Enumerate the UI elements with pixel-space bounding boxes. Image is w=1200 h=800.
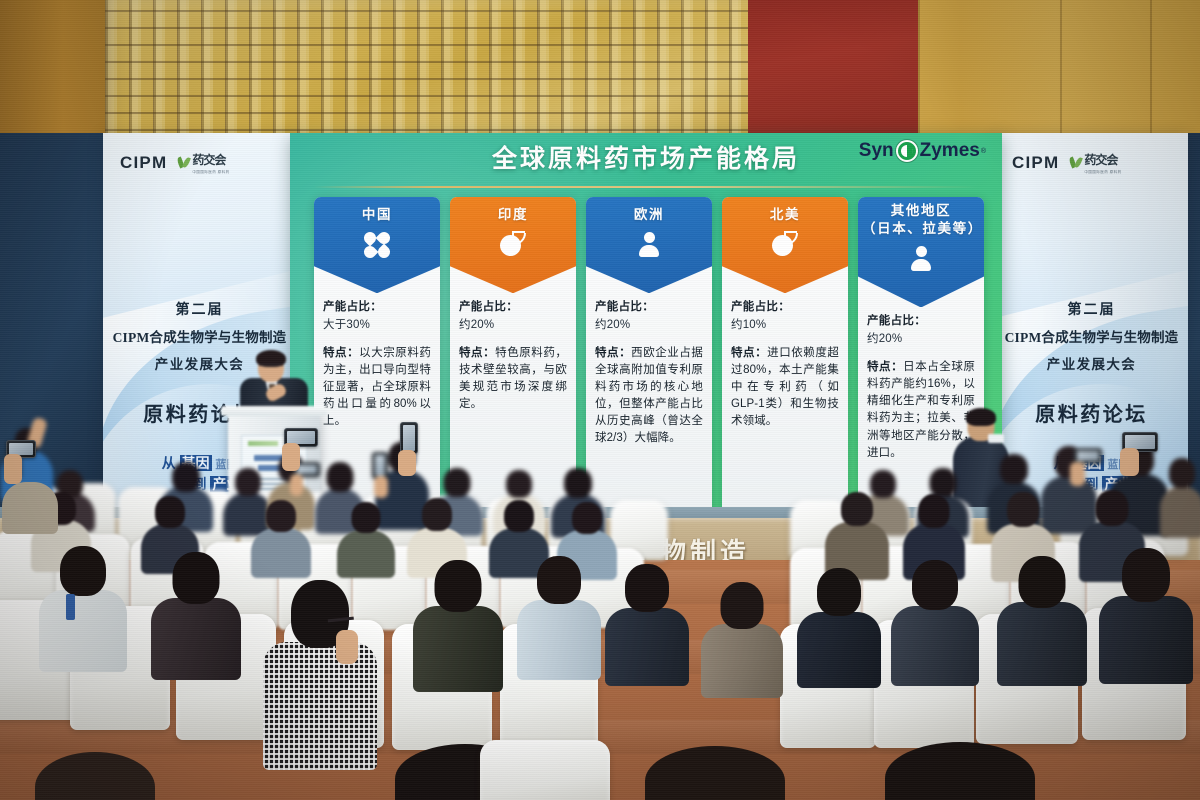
logo-part-2: Zymes bbox=[920, 140, 980, 162]
audience-head bbox=[1000, 454, 1028, 484]
share-value: 约20% bbox=[459, 316, 567, 332]
audience-member-foreground bbox=[262, 580, 378, 750]
hand bbox=[398, 450, 416, 476]
audience-body bbox=[151, 598, 241, 680]
feature-block: 特点：特色原料药，技术壁垒较高，与欧美规范市场深度绑定。 bbox=[459, 345, 567, 413]
attendee-photographer bbox=[1112, 432, 1182, 504]
banner-title-line1: 第二届 bbox=[995, 299, 1188, 319]
hand bbox=[1070, 462, 1085, 486]
region-card-north-america: 北美 产能占比： 约10% 特点：进口依赖度超过80%，本土产能集中在专利药（如… bbox=[722, 197, 848, 525]
card-body: 产能占比： 约20% 特点：西欧企业占据全球高附加值专利原料药市场的核心地位，但… bbox=[586, 293, 712, 447]
audience-member-partial bbox=[880, 742, 1040, 800]
feature-label: 特点： bbox=[323, 347, 359, 359]
synzymes-logo: Syn Zymes ® bbox=[859, 140, 986, 162]
feature-label: 特点： bbox=[867, 361, 903, 373]
glasses bbox=[328, 617, 355, 627]
audience-body-plaid bbox=[263, 642, 377, 770]
clover-icon bbox=[363, 231, 391, 259]
audience-member bbox=[38, 546, 128, 658]
attendee-photographer bbox=[0, 440, 60, 530]
share-label: 产能占比： bbox=[595, 298, 703, 314]
audience-head bbox=[172, 462, 200, 492]
card-region-name: 其他地区 bbox=[862, 202, 980, 220]
audience-head bbox=[235, 468, 261, 496]
audience-body bbox=[605, 608, 689, 686]
card-header: 北美 bbox=[722, 197, 848, 293]
attendee-collar bbox=[988, 434, 1004, 443]
audience-member bbox=[412, 560, 504, 676]
audience-member bbox=[796, 568, 882, 676]
card-region-note: （日本、拉美等） bbox=[862, 220, 980, 238]
attendee-photographer bbox=[396, 422, 460, 496]
audience-head bbox=[1019, 556, 1066, 608]
leaf-icon bbox=[1070, 157, 1081, 170]
audience-head bbox=[817, 568, 861, 616]
logo-cn-sub: 中国国际医药 原料药 bbox=[192, 170, 229, 175]
audience-member bbox=[1098, 548, 1194, 670]
slide-divider bbox=[314, 186, 978, 188]
logo-part-1: Syn bbox=[859, 140, 894, 162]
card-header: 中国 bbox=[314, 197, 440, 293]
person-icon bbox=[635, 231, 663, 259]
audience-head bbox=[625, 564, 669, 612]
audience-member bbox=[890, 560, 980, 672]
card-region-name: 北美 bbox=[726, 206, 844, 224]
share-value: 约10% bbox=[731, 316, 839, 332]
audience-body bbox=[337, 530, 395, 578]
audience-head bbox=[537, 556, 581, 604]
card-region-name: 印度 bbox=[454, 206, 572, 224]
chair bbox=[480, 740, 610, 800]
card-header: 欧洲 bbox=[586, 197, 712, 293]
hand bbox=[282, 443, 300, 471]
cipm-logo: CIPM bbox=[120, 153, 167, 173]
person-icon bbox=[907, 245, 935, 273]
banner-logos: CIPM 药交会 中国国际医药 原料药 bbox=[1012, 151, 1122, 175]
card-region-name: 欧洲 bbox=[590, 206, 708, 224]
audience-member bbox=[150, 552, 242, 666]
pie-chart-icon bbox=[771, 231, 799, 259]
audience-head bbox=[919, 494, 950, 528]
banner-logos: CIPM 药交会 中国国际医药 原料药 bbox=[120, 151, 230, 175]
banner-title-line3: 产业发展大会 bbox=[995, 353, 1188, 373]
hand bbox=[1120, 448, 1139, 476]
hand bbox=[4, 454, 22, 484]
conference-photo: CIPM 药交会 中国国际医药 原料药 第二届 CIPM合成生物学与生物制造 产… bbox=[0, 0, 1200, 800]
audience-member bbox=[996, 556, 1088, 672]
feature-block: 特点：以大宗原料药为主，出口导向型特征显著，占全球原料药出口量的80%以上。 bbox=[323, 345, 431, 430]
pie-chart-icon bbox=[499, 231, 527, 259]
audience-head bbox=[721, 582, 764, 629]
audience-member bbox=[336, 502, 396, 572]
audience-head bbox=[173, 552, 220, 604]
hand bbox=[336, 630, 358, 664]
synzymes-emblem-icon bbox=[896, 140, 918, 162]
lanyard bbox=[66, 594, 75, 620]
speaker-glasses bbox=[259, 364, 283, 369]
audience-head bbox=[504, 500, 534, 532]
audience-body bbox=[891, 606, 979, 686]
share-label: 产能占比： bbox=[323, 298, 431, 314]
logo-cn-mark: 药交会 bbox=[1084, 153, 1117, 167]
audience-body bbox=[1099, 596, 1193, 684]
audience-head bbox=[435, 560, 482, 612]
card-header: 其他地区 （日本、拉美等） bbox=[858, 197, 984, 307]
attendee-photographer bbox=[276, 428, 340, 498]
feature-block: 特点：进口依赖度超过80%，本土产能集中在专利药（如GLP-1类）和生物技术领域… bbox=[731, 345, 839, 430]
audience-head bbox=[1122, 548, 1170, 602]
audience-head bbox=[506, 470, 532, 498]
share-value: 大于30% bbox=[323, 316, 431, 332]
audience-member-partial bbox=[30, 752, 160, 800]
audience-head bbox=[35, 752, 155, 800]
feature-block: 特点：西欧企业占据全球高附加值专利原料药市场的核心地位，但整体产能占比从历史高峰… bbox=[595, 345, 703, 447]
podium-top bbox=[221, 406, 327, 416]
audience-member bbox=[824, 492, 890, 574]
audience-head bbox=[60, 546, 106, 596]
leaf-icon bbox=[178, 157, 189, 170]
audience-head bbox=[266, 500, 296, 532]
registered-mark: ® bbox=[981, 148, 986, 155]
share-value: 约20% bbox=[867, 330, 975, 346]
banner-title: 第二届 CIPM合成生物学与生物制造 产业发展大会 bbox=[995, 299, 1188, 373]
audience-head bbox=[422, 498, 452, 531]
attendee-hair bbox=[966, 408, 996, 426]
hand bbox=[374, 476, 388, 498]
audience-body bbox=[517, 600, 601, 680]
audience-head bbox=[645, 746, 785, 800]
audience-member bbox=[604, 564, 690, 672]
audience-member bbox=[250, 500, 312, 572]
card-body: 产能占比： 大于30% 特点：以大宗原料药为主，出口导向型特征显著，占全球原料药… bbox=[314, 293, 440, 430]
audience-head bbox=[564, 468, 592, 498]
audience-body bbox=[413, 606, 503, 692]
audience-body bbox=[701, 624, 783, 698]
feature-label: 特点： bbox=[459, 347, 495, 359]
feature-text: 进口依赖度超过80%，本土产能集中在专利药（如GLP-1类）和生物技术领域。 bbox=[731, 347, 839, 427]
pharma-expo-logo: 药交会 中国国际医药 原料药 bbox=[1070, 151, 1121, 175]
card-body: 产能占比： 约20% 特点：特色原料药，技术壁垒较高，与欧美规范市场深度绑定。 bbox=[450, 293, 576, 413]
audience-body bbox=[997, 602, 1087, 686]
audience-head bbox=[930, 468, 957, 497]
audience-member bbox=[700, 582, 784, 686]
share-label: 产能占比： bbox=[731, 298, 839, 314]
logo-cn-mark: 药交会 bbox=[192, 153, 225, 167]
card-region-name: 中国 bbox=[318, 206, 436, 224]
audience-head bbox=[885, 742, 1035, 800]
slide-title: 全球原料药市场产能格局 bbox=[492, 139, 800, 175]
banner-title-line1: 第二届 bbox=[103, 299, 296, 319]
share-label: 产能占比： bbox=[867, 312, 975, 328]
audience-head bbox=[352, 502, 381, 533]
audience-head bbox=[912, 560, 958, 610]
banner-forum-name: 原料药论坛 bbox=[995, 398, 1188, 427]
red-accent-panel bbox=[748, 0, 918, 140]
audience-member bbox=[516, 556, 602, 666]
banner-title-line2: CIPM合成生物学与生物制造 bbox=[995, 326, 1188, 346]
feature-text: 西欧企业占据全球高附加值专利原料药市场的核心地位，但整体产能占比从历史高峰（曾达… bbox=[595, 347, 703, 444]
audience-head bbox=[155, 496, 185, 528]
feature-label: 特点： bbox=[731, 347, 767, 359]
feature-text: 以大宗原料药为主，出口导向型特征显著，占全球原料药出口量的80%以上。 bbox=[323, 347, 431, 427]
audience-body bbox=[39, 590, 127, 672]
pharma-expo-logo: 药交会 中国国际医药 原料药 bbox=[178, 151, 229, 175]
audience-head bbox=[572, 502, 602, 534]
audience-body bbox=[797, 612, 881, 688]
logo-cn-sub: 中国国际医药 原料药 bbox=[1084, 170, 1121, 175]
feature-label: 特点： bbox=[595, 347, 631, 359]
audience-member-partial bbox=[640, 746, 790, 800]
share-label: 产能占比： bbox=[459, 298, 567, 314]
card-header: 印度 bbox=[450, 197, 576, 293]
audience-body bbox=[251, 528, 311, 578]
card-body: 产能占比： 约10% 特点：进口依赖度超过80%，本土产能集中在专利药（如GLP… bbox=[722, 293, 848, 430]
audience-head bbox=[1007, 492, 1039, 527]
audience-head bbox=[841, 492, 873, 526]
share-value: 约20% bbox=[595, 316, 703, 332]
attendee-body bbox=[2, 482, 58, 534]
cipm-logo: CIPM bbox=[1012, 153, 1059, 173]
banner-title-line2: CIPM合成生物学与生物制造 bbox=[103, 326, 296, 346]
smartphone bbox=[372, 452, 388, 479]
